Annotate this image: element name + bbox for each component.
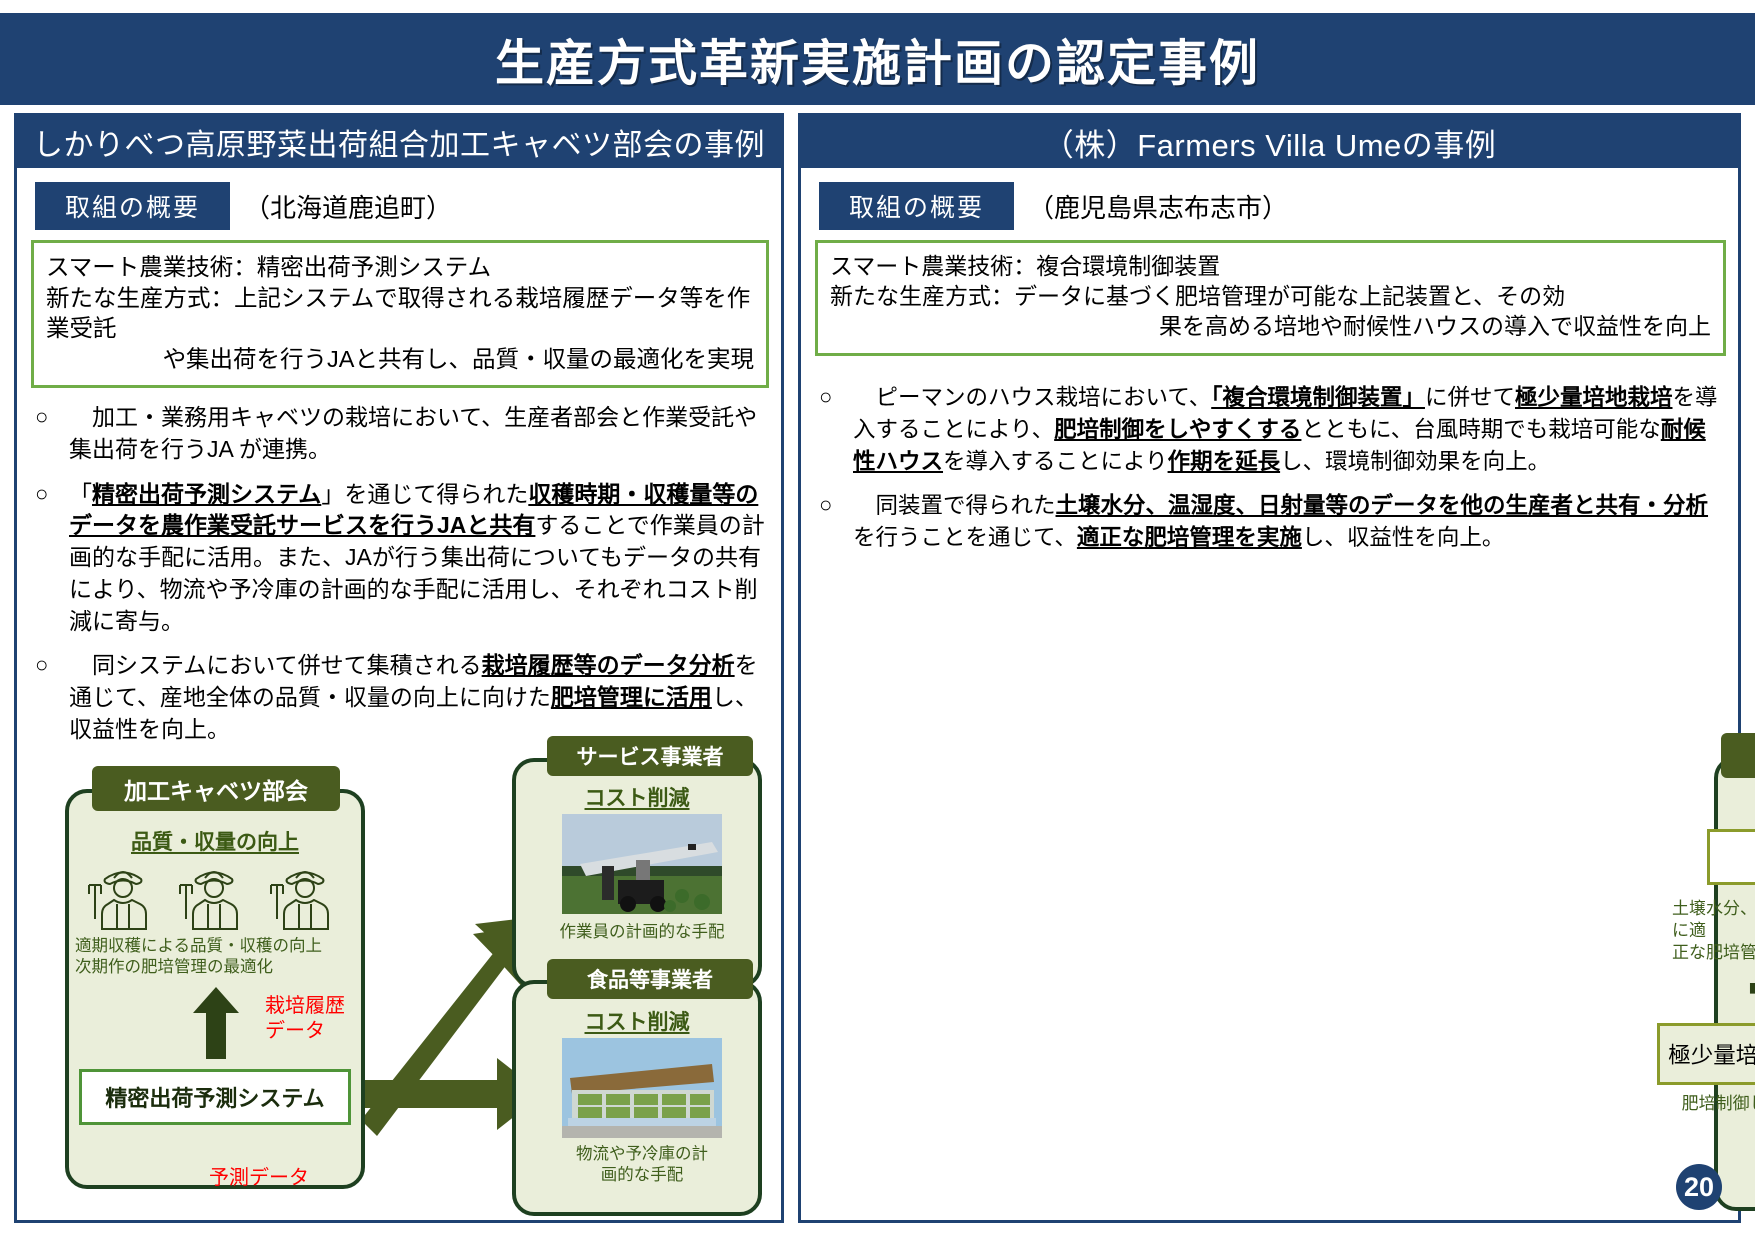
harvester-photo	[562, 814, 722, 914]
label-forecast-data: 予測データ	[169, 1166, 349, 1191]
right-overview-tag: 取組の概要	[819, 182, 1014, 230]
bullet-marker: ○	[819, 490, 853, 554]
group-title-service-provider: サービス事業者	[547, 736, 753, 776]
left-overview-row: 取組の概要 （北海道鹿追町）	[35, 182, 781, 230]
bullet-marker: ○	[819, 382, 853, 478]
page-title: 生産方式革新実施計画の認定事例	[495, 24, 1260, 95]
box-composite-environment-control: 複合環境制御装置	[1707, 829, 1755, 885]
left-spec-line-2: 新たな生産方式：上記システムで取得される栽培履歴データ等を作業受託	[46, 283, 754, 344]
right-diagram: （株）Farmers Villa Ume 品質・収量の向上 複合環境制御装置 土…	[1599, 711, 1755, 1231]
bullet-marker: ○	[35, 650, 69, 745]
farmer-icon	[87, 859, 161, 931]
bullet-text: 加工・業務用キャベツの栽培において、生産者部会と作業受託や集出荷を行うJA が連…	[69, 402, 767, 465]
right-bullet-list: ○ ピーマンのハウス栽培において、「複合環境制御装置」に併せて極少量培地栽培を導…	[819, 382, 1724, 555]
bullet-text: 「精密出荷予測システム」を通じて得られた収穫時期・収穫量等のデータを農作業受託サ…	[69, 479, 767, 638]
left-bullet-list: ○ 加工・業務用キャベツの栽培において、生産者部会と作業受託や集出荷を行うJA …	[35, 402, 767, 745]
left-overview-tag: 取組の概要	[35, 182, 230, 230]
slide-title-banner: 生産方式革新実施計画の認定事例	[0, 13, 1755, 105]
bullet-text: 同装置で得られた土壌水分、温湿度、日射量等のデータを他の生産者と共有・分析を行う…	[853, 490, 1724, 554]
right-spec-box: スマート農業技術：複合環境制御装置 新たな生産方式：データに基づく肥培管理が可能…	[815, 240, 1726, 356]
right-spec-line-1: スマート農業技術：複合環境制御装置	[830, 252, 1711, 282]
slide-root: 生産方式革新実施計画の認定事例 しかりべつ高原野菜出荷組合加工キャベツ部会の事例…	[0, 0, 1755, 1241]
food-cost-reduction-label: コスト削減	[522, 1006, 752, 1036]
up-arrow-icon	[193, 987, 239, 1059]
label-cultivation-history-data: 栽培履歴 データ	[265, 994, 375, 1044]
right-bullet-2: ○ 同装置で得られた土壌水分、温湿度、日射量等のデータを他の生産者と共有・分析を…	[819, 490, 1724, 554]
left-spec-line-3: や集出荷を行うJAと共有し、品質・収量の最適化を実現	[46, 344, 754, 375]
service-cost-reduction-label: コスト削減	[522, 782, 752, 812]
left-bullet-1: ○ 加工・業務用キャベツの栽培において、生産者部会と作業受託や集出荷を行うJA …	[35, 402, 767, 465]
farmer-icon-row	[79, 859, 351, 931]
right-spec-line-3: 果を高める培地や耐候性ハウスの導入で収益性を向上	[830, 312, 1711, 342]
right-case-header: （株）Farmers Villa Umeの事例	[801, 116, 1738, 168]
bullet-marker: ○	[35, 402, 69, 465]
left-bullet-3: ○ 同システムにおいて併せて集積される栽培履歴等のデータ分析を通じて、産地全体の…	[35, 650, 767, 745]
fvu-subtitle: 品質・収量の向上	[1719, 791, 1755, 821]
service-caption: 作業員の計画的な手配	[522, 922, 762, 943]
food-caption: 物流や予冷庫の計 画的な手配	[537, 1144, 747, 1187]
farmer-icon	[178, 859, 252, 931]
cabbage-subtitle: 品質・収量の向上	[75, 826, 355, 856]
group-title-food-business: 食品等事業者	[547, 959, 753, 999]
cabbage-note: 適期収穫による品質・収穫の向上 次期作の肥培管理の最適化	[75, 936, 355, 979]
cold-storage-photo	[562, 1038, 722, 1138]
bullet-marker: ○	[35, 479, 69, 638]
left-location: （北海道鹿追町）	[244, 188, 452, 225]
right-location: （鹿児島県志布志市）	[1028, 188, 1288, 225]
case-panel-left: しかりべつ高原野菜出荷組合加工キャベツ部会の事例 取組の概要 （北海道鹿追町） …	[14, 113, 784, 1223]
plus-icon: ✚	[1747, 963, 1755, 1017]
caption-minimal-substrate: 肥培制御しやすい	[1657, 1093, 1755, 1115]
bullet-text: 同システムにおいて併せて集積される栽培履歴等のデータ分析を通じて、産地全体の品質…	[69, 650, 767, 745]
left-spec-line-1: スマート農業技術：精密出荷予測システム	[46, 252, 754, 283]
right-spec-line-2: 新たな生産方式：データに基づく肥培管理が可能な上記装置と、その効	[830, 282, 1711, 312]
farmer-icon	[269, 859, 343, 931]
group-title-cabbage-section: 加工キャベツ部会	[92, 766, 340, 811]
left-diagram: 加工キャベツ部会 品質・収量の向上	[17, 744, 781, 1222]
right-bullet-1: ○ ピーマンのハウス栽培において、「複合環境制御装置」に併せて極少量培地栽培を導…	[819, 382, 1724, 478]
left-spec-box: スマート農業技術：精密出荷予測システム 新たな生産方式：上記システムで取得される…	[31, 240, 769, 388]
case-panel-right: （株）Farmers Villa Umeの事例 取組の概要 （鹿児島県志布志市）…	[798, 113, 1741, 1223]
left-case-header: しかりべつ高原野菜出荷組合加工キャベツ部会の事例	[17, 116, 781, 168]
fvu-note: 土壌水分、温湿度、日射量等のデータを基に適 正な肥培管理を実施	[1672, 898, 1755, 964]
page-number-badge: 20	[1676, 1164, 1722, 1210]
bullet-text: ピーマンのハウス栽培において、「複合環境制御装置」に併せて極少量培地栽培を導入す…	[853, 382, 1724, 478]
right-overview-row: 取組の概要 （鹿児島県志布志市）	[819, 182, 1738, 230]
box-shipment-forecast-system: 精密出荷予測システム	[79, 1069, 351, 1125]
group-title-farmers-villa-ume: （株）Farmers Villa Ume	[1721, 733, 1755, 778]
left-bullet-2: ○ 「精密出荷予測システム」を通じて得られた収穫時期・収穫量等のデータを農作業受…	[35, 479, 767, 638]
box-minimal-substrate-cultivation: 極少量培地栽培	[1657, 1023, 1755, 1085]
